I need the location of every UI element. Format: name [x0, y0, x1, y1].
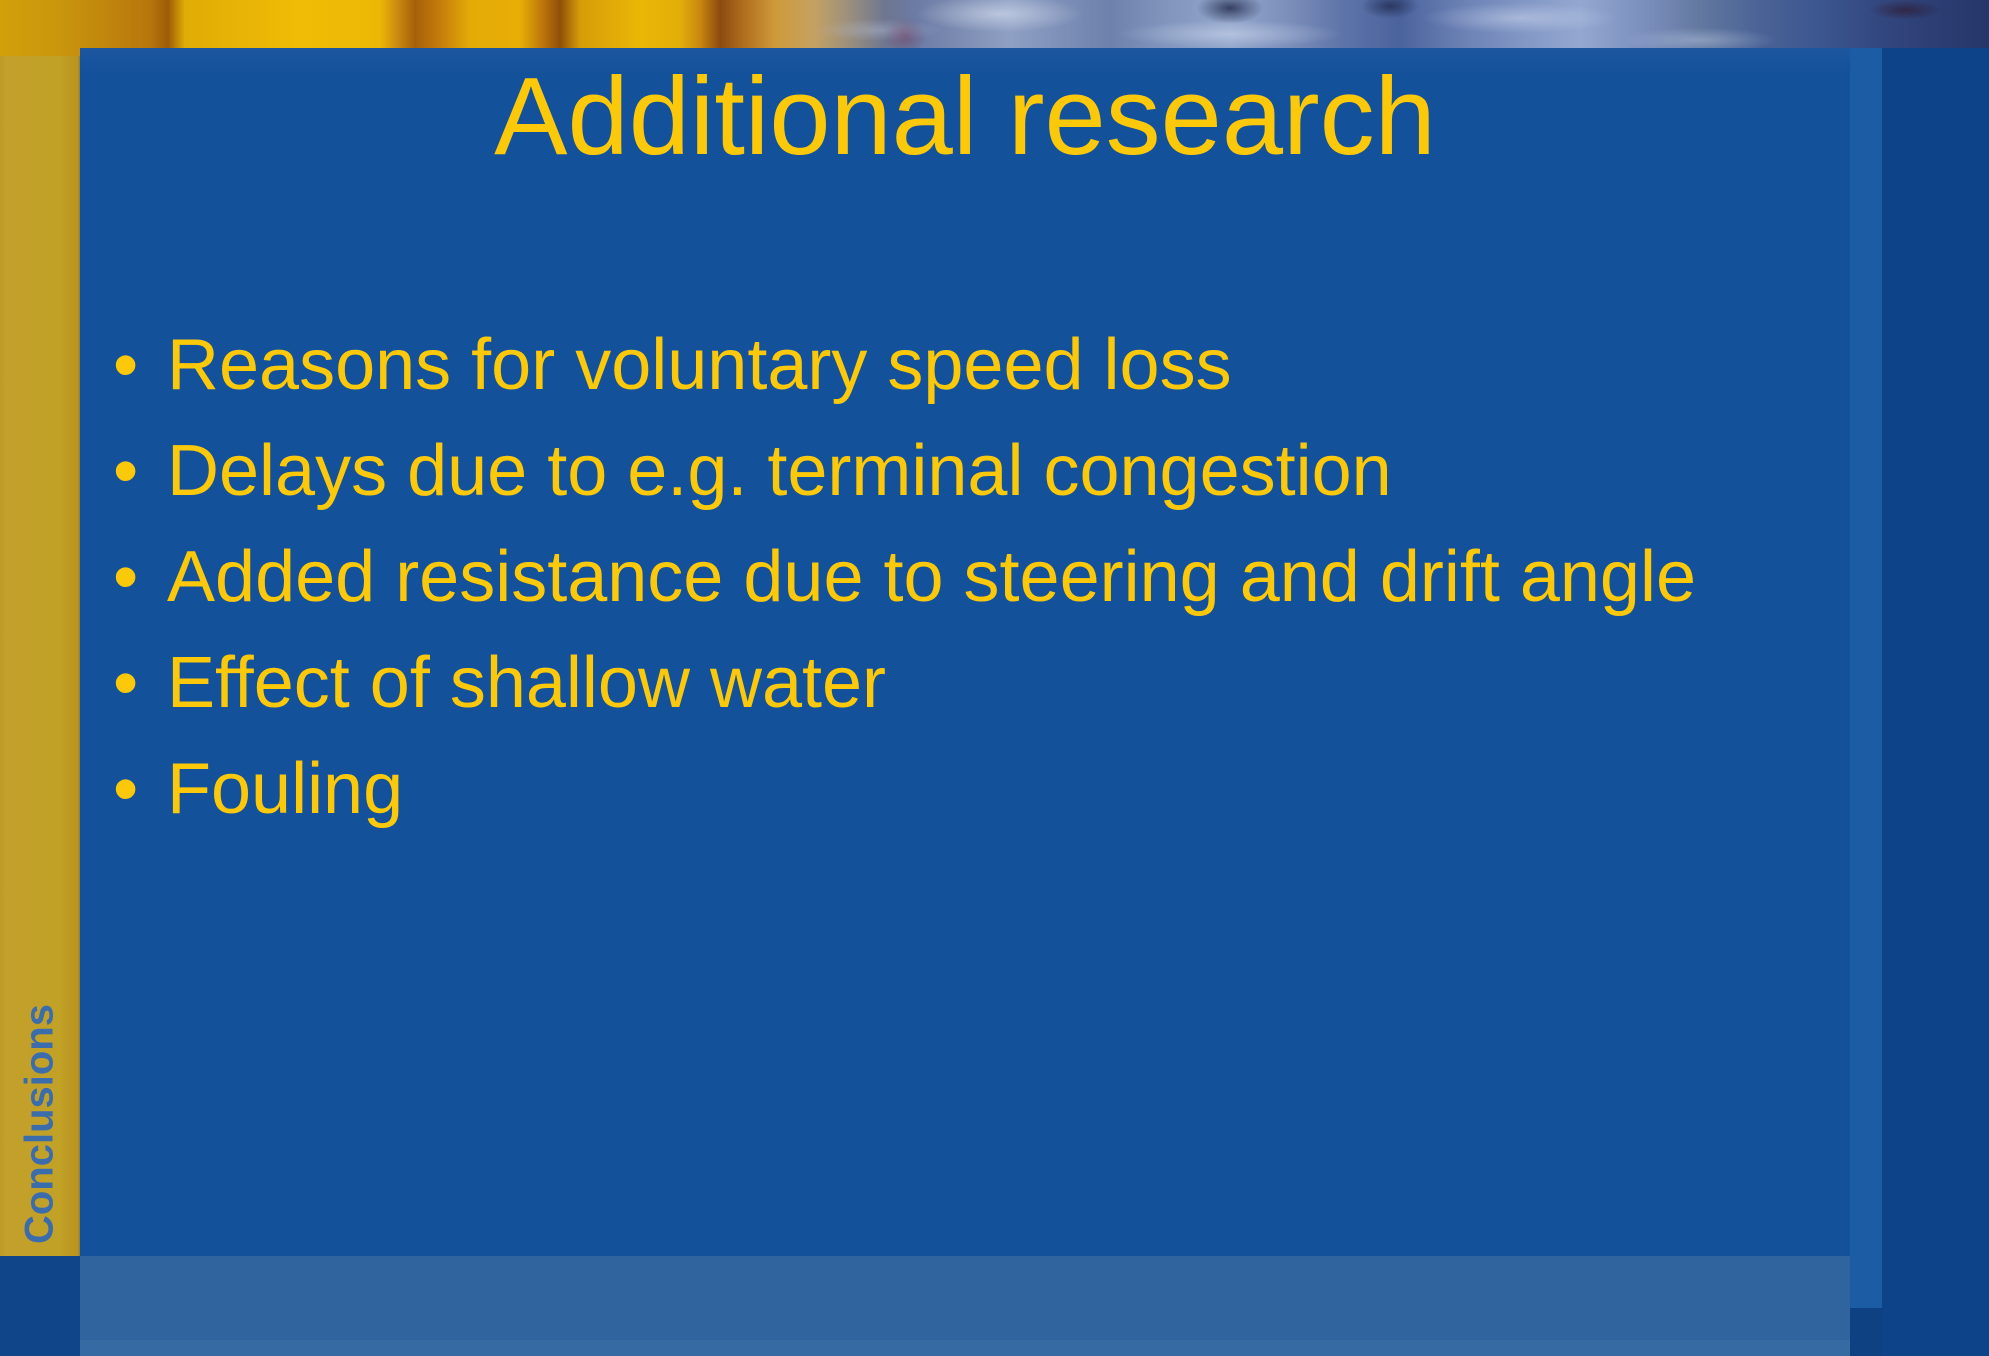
bullet-marker-icon: •	[105, 320, 167, 410]
slide-title: Additional research	[80, 62, 1850, 172]
sidebar-footer-block	[0, 1256, 80, 1356]
footer-band-edge	[80, 1340, 1850, 1356]
bullet-marker-icon: •	[105, 744, 167, 834]
bullet-text: Added resistance due to steering and dri…	[167, 532, 1845, 622]
list-item: • Effect of shallow water	[105, 638, 1845, 728]
bullet-list: • Reasons for voluntary speed loss • Del…	[105, 320, 1845, 850]
bullet-marker-icon: •	[105, 638, 167, 728]
list-item: • Fouling	[105, 744, 1845, 834]
bullet-marker-icon: •	[105, 532, 167, 622]
sidebar-section-tab[interactable]: Conclusions	[0, 56, 80, 1256]
bullet-text: Reasons for voluntary speed loss	[167, 320, 1845, 410]
presentation-slide: Conclusions Additional research • Reason…	[0, 0, 1989, 1356]
list-item: • Reasons for voluntary speed loss	[105, 320, 1845, 410]
right-inner-strip	[1850, 48, 1882, 1308]
bullet-text: Effect of shallow water	[167, 638, 1845, 728]
bullet-text: Delays due to e.g. terminal congestion	[167, 426, 1845, 516]
right-edge-strip	[1882, 48, 1989, 1356]
bullet-text: Fouling	[167, 744, 1845, 834]
list-item: • Delays due to e.g. terminal congestion	[105, 426, 1845, 516]
sidebar-section-label: Conclusions	[18, 1004, 63, 1244]
bullet-marker-icon: •	[105, 426, 167, 516]
list-item: • Added resistance due to steering and d…	[105, 532, 1845, 622]
